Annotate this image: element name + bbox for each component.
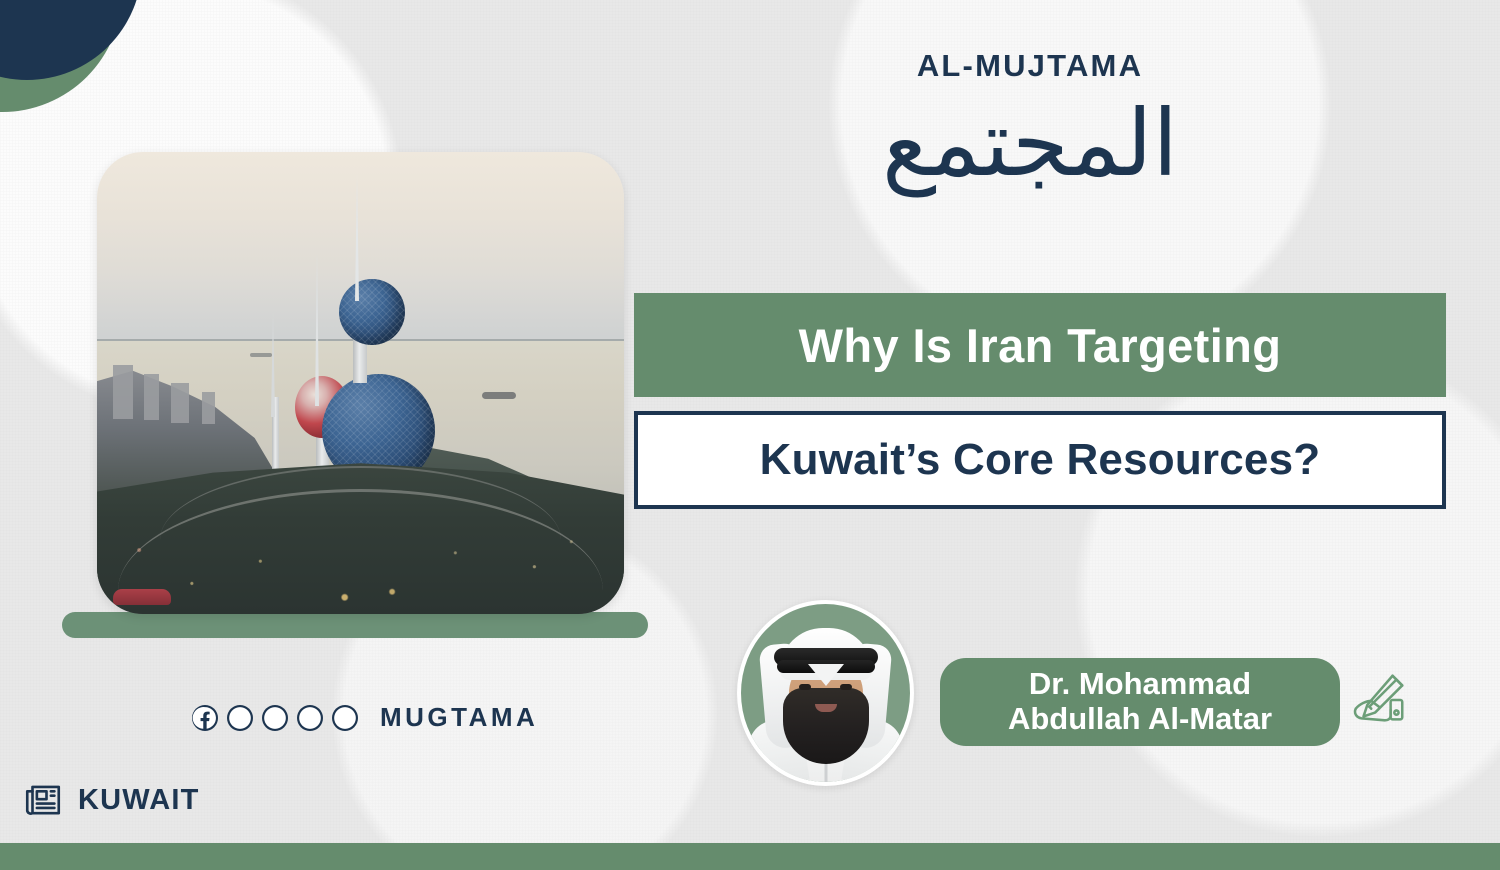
footer-section-label: KUWAIT <box>78 784 200 817</box>
hand-writing-pencil-icon <box>1348 668 1410 730</box>
brand-logo: AL-MUJTAMA المجتمع <box>880 48 1180 206</box>
headline-line1-bar: Why Is Iran Targeting <box>634 293 1446 397</box>
photo-accent-bar <box>62 612 648 638</box>
author-avatar <box>737 600 914 786</box>
corner-decoration-navy <box>0 0 142 80</box>
author-name-pill: Dr. Mohammad Abdullah Al-Matar <box>940 658 1340 746</box>
facebook-icon[interactable] <box>192 705 218 731</box>
headline-line1-text: Why Is Iran Targeting <box>799 318 1282 373</box>
headline-line2-bar: Kuwait’s Core Resources? <box>634 411 1446 509</box>
brand-latin-name: AL-MUJTAMA <box>880 48 1180 84</box>
newspaper-icon <box>22 779 64 821</box>
article-poster: AL-MUJTAMA المجتمع Why Is Iran Targeting… <box>0 0 1500 870</box>
footer-bar <box>0 843 1500 870</box>
footer-section-badge: KUWAIT <box>22 779 200 821</box>
headline-line2-text: Kuwait’s Core Resources? <box>760 435 1321 485</box>
tiktok-icon[interactable] <box>227 705 253 731</box>
social-links: MUGTAMA <box>192 702 538 733</box>
x-twitter-icon[interactable] <box>297 705 323 731</box>
instagram-icon[interactable] <box>262 705 288 731</box>
youtube-icon[interactable] <box>332 705 358 731</box>
hero-photo <box>97 152 624 614</box>
brand-arabic-name: المجتمع <box>880 82 1180 206</box>
author-name-text: Dr. Mohammad Abdullah Al-Matar <box>1008 667 1272 736</box>
social-handle: MUGTAMA <box>380 702 538 733</box>
